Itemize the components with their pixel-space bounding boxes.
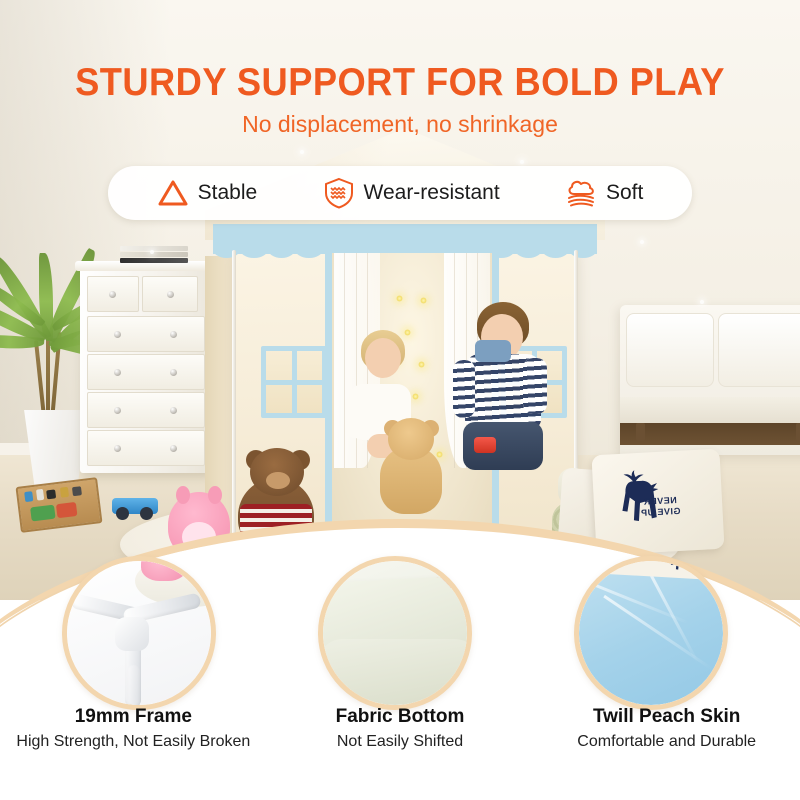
feature-thumb-twill-skin bbox=[574, 556, 728, 710]
subheadline: No displacement, no shrinkage bbox=[0, 110, 800, 138]
product-marketing-poster: NEVER GIVE UP bbox=[0, 0, 800, 800]
triangle-icon bbox=[157, 177, 189, 209]
feature-subtitle: Not Easily Shifted bbox=[283, 732, 518, 752]
badge-bar: Stable Wear-resistant Soft bbox=[108, 166, 692, 220]
feature-subtitle: Comfortable and Durable bbox=[549, 732, 784, 752]
feature-thumb-fabric-bottom bbox=[318, 556, 472, 710]
badge-wear-resistant-label: Wear-resistant bbox=[364, 181, 500, 205]
headline: STURDY SUPPORT FOR BOLD PLAY bbox=[28, 62, 772, 104]
feature-caption-frame: 19mm Frame High Strength, Not Easily Bro… bbox=[0, 705, 267, 752]
badge-stable-label: Stable bbox=[198, 181, 258, 205]
feature-subtitle: High Strength, Not Easily Broken bbox=[16, 732, 251, 752]
feature-caption-row: 19mm Frame High Strength, Not Easily Bro… bbox=[0, 705, 800, 752]
badge-stable[interactable]: Stable bbox=[157, 177, 258, 209]
feature-title: Twill Peach Skin bbox=[549, 705, 784, 729]
deer-icon-thumb bbox=[665, 561, 695, 577]
feature-caption-fabric-bottom: Fabric Bottom Not Easily Shifted bbox=[267, 705, 534, 752]
feature-thumb-frame bbox=[62, 556, 216, 710]
feature-caption-twill-skin: Twill Peach Skin Comfortable and Durable bbox=[533, 705, 800, 752]
feature-title: Fabric Bottom bbox=[283, 705, 518, 729]
shield-wave-icon bbox=[323, 177, 355, 209]
badge-wear-resistant[interactable]: Wear-resistant bbox=[323, 177, 500, 209]
soft-cloud-icon bbox=[565, 177, 597, 209]
feature-title: 19mm Frame bbox=[16, 705, 251, 729]
badge-soft[interactable]: Soft bbox=[565, 177, 643, 209]
badge-soft-label: Soft bbox=[606, 181, 643, 205]
